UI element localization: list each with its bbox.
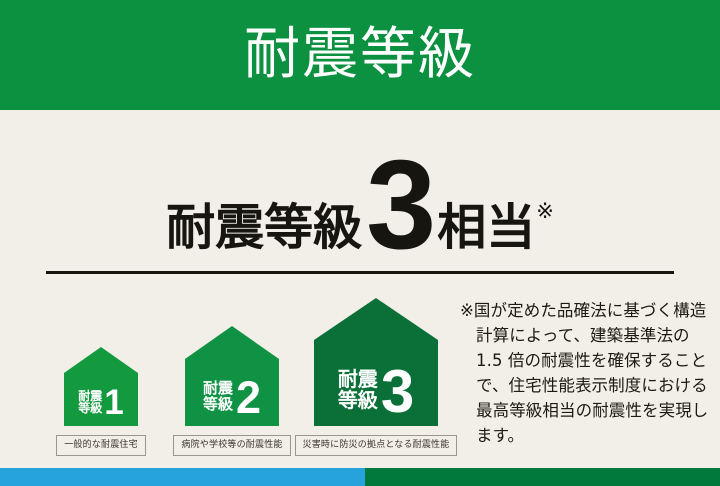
page-title: 耐震等級 (244, 27, 476, 83)
grade-caption-2: 病院や学校等の耐震性能 (173, 435, 290, 456)
house-icon-grade-2: 耐震 等級 2 (185, 326, 279, 426)
house-kanji-line1-3: 耐震 (338, 369, 378, 389)
lower-section: 耐震 等級 1 一般的な耐震住宅 耐震 (0, 290, 720, 456)
section-divider (46, 271, 674, 274)
footnote-mark: ※ (536, 199, 554, 223)
header-band: 耐震等級 (0, 0, 720, 110)
grade-column-2: 耐震 等級 2 病院や学校等の耐震性能 (168, 326, 296, 456)
house-number-3: 3 (381, 368, 414, 416)
house-number-2: 2 (236, 380, 261, 416)
house-number-1: 1 (104, 389, 123, 417)
house-kanji-3: 耐震 等級 (338, 369, 378, 410)
headline: 耐震等級 3 相当 ※ (0, 132, 720, 252)
house-icon-grade-3: 耐震 等級 3 (314, 298, 438, 426)
headline-tail-text: 相当 (437, 203, 535, 252)
house-kanji-1: 耐震 等級 (78, 390, 102, 414)
house-label-1: 耐震 等級 1 (78, 386, 123, 426)
grade-column-1: 耐震 等級 1 一般的な耐震住宅 (46, 347, 156, 456)
house-kanji-line2-1: 等級 (78, 402, 102, 414)
headline-lead-text: 耐震等級 (166, 203, 362, 252)
grade-caption-1: 一般的な耐震住宅 (56, 435, 146, 456)
house-kanji-line2-2: 等級 (203, 397, 233, 412)
house-kanji-line1-1: 耐震 (78, 390, 102, 402)
bottom-bar-green (365, 468, 720, 486)
footnote-text: ※国が定めた品確法に基づく構造計算によって、建築基準法の 1.5 倍の耐震性を確… (460, 298, 716, 448)
house-label-3: 耐震 等級 3 (338, 362, 414, 426)
bottom-bar-blue (0, 468, 365, 486)
grade-column-3: 耐震 等級 3 災害時に防災の拠点となる耐震性能 (292, 298, 460, 456)
house-kanji-line2-3: 等級 (338, 390, 378, 410)
headline-grade-number: 3 (366, 156, 434, 254)
house-kanji-2: 耐震 等級 (203, 381, 233, 412)
house-label-2: 耐震 等級 2 (203, 376, 261, 426)
bottom-bar (0, 468, 720, 486)
headline-inner: 耐震等級 3 相当 ※ (166, 152, 554, 252)
house-icon-grade-1: 耐震 等級 1 (64, 347, 138, 426)
grade-chart: 耐震 等級 1 一般的な耐震住宅 耐震 (40, 290, 460, 456)
infographic-page: 耐震等級 耐震等級 3 相当 ※ 耐震 等級 (0, 0, 720, 486)
grade-caption-3: 災害時に防災の拠点となる耐震性能 (295, 435, 458, 456)
